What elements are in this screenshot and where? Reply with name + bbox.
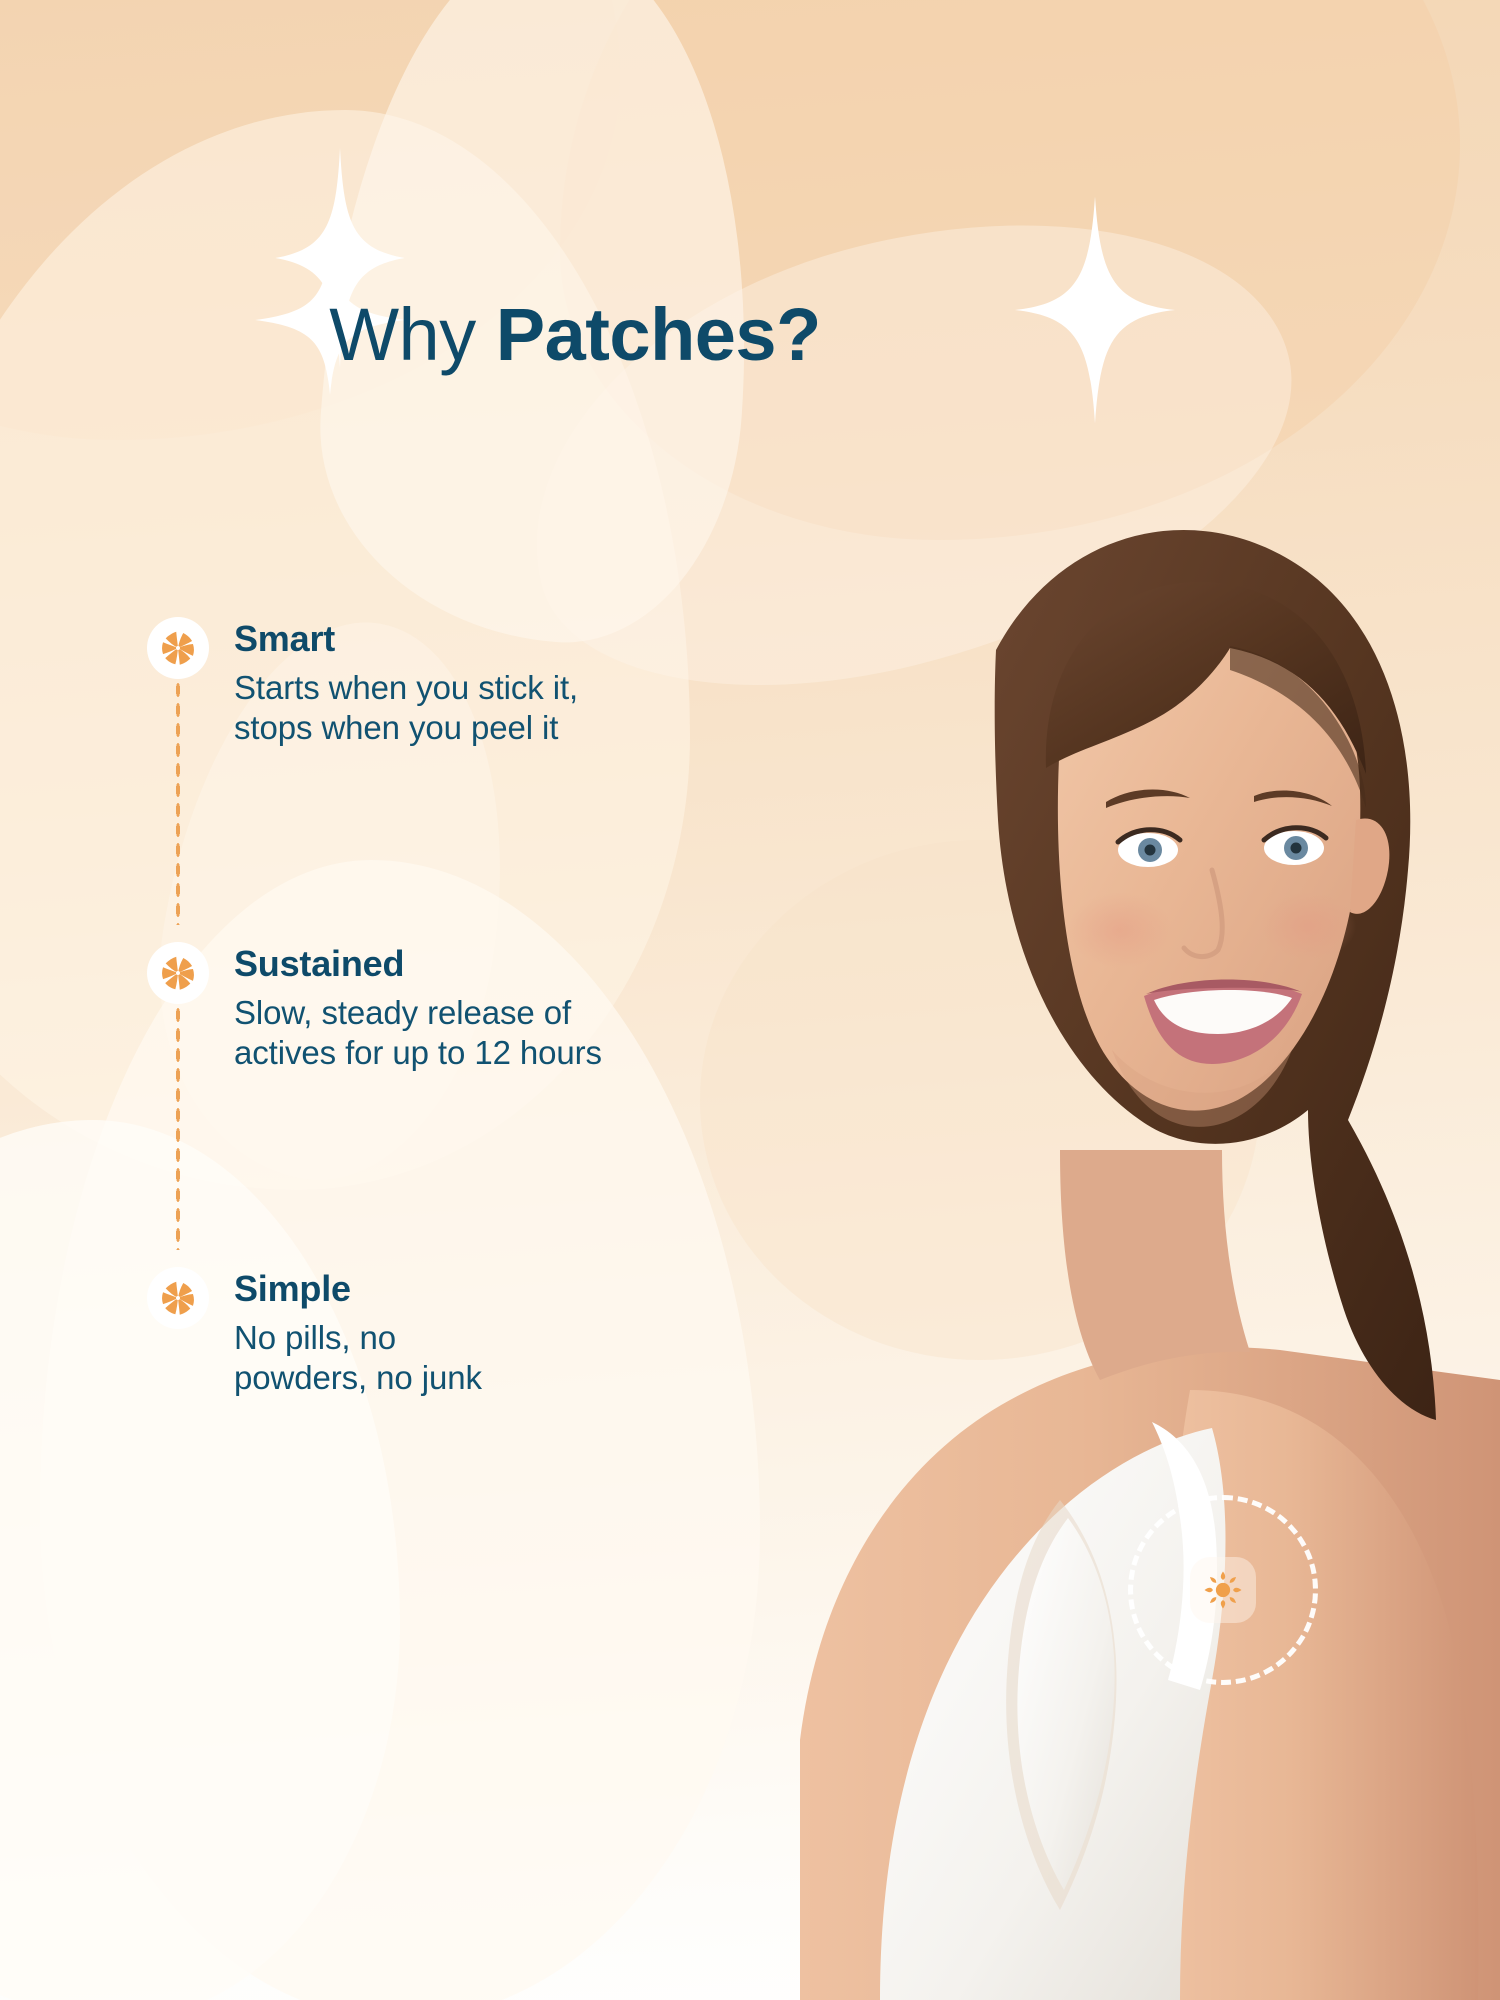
feature-title: Sustained: [234, 945, 770, 983]
citrus-slice-icon: [150, 945, 206, 1001]
citrus-slice-icon: [150, 1270, 206, 1326]
dotted-connector: [175, 680, 181, 925]
skin-patch-marker: [1128, 1495, 1318, 1685]
list-item-text: Smart Starts when you stick it,stops whe…: [234, 620, 770, 748]
list-item: Sustained Slow, steady release ofactives…: [150, 945, 770, 1270]
citrus-slice-icon: [150, 620, 206, 676]
feature-title: Simple: [234, 1270, 770, 1308]
feature-list: Smart Starts when you stick it,stops whe…: [150, 620, 770, 1420]
feature-title: Smart: [234, 620, 770, 658]
feature-description: No pills, nopowders, no junk: [234, 1318, 770, 1399]
list-item-text: Sustained Slow, steady release ofactives…: [234, 945, 770, 1073]
dotted-connector: [175, 1005, 181, 1250]
page-title-light: Why: [329, 293, 496, 376]
list-item: Simple No pills, nopowders, no junk: [150, 1270, 770, 1420]
model-photo: [760, 350, 1500, 2000]
feature-description: Slow, steady release ofactives for up to…: [234, 993, 770, 1074]
poster-canvas: Why Patches?: [0, 0, 1500, 2000]
list-item-text: Simple No pills, nopowders, no junk: [234, 1270, 770, 1398]
feature-description: Starts when you stick it,stops when you …: [234, 668, 770, 749]
list-item: Smart Starts when you stick it,stops whe…: [150, 620, 770, 945]
sun-icon: [1202, 1569, 1244, 1611]
